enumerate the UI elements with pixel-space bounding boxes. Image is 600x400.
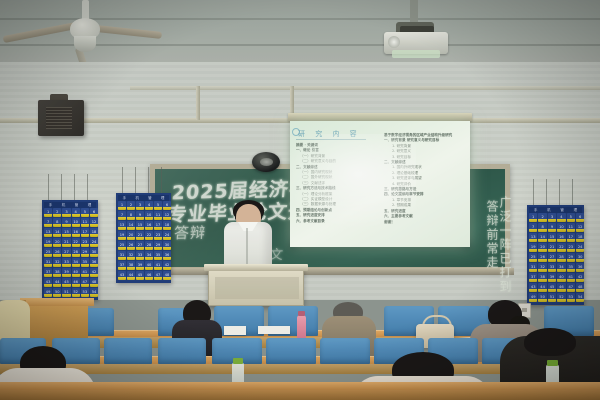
pocket-cell[interactable]: 12 xyxy=(163,211,171,220)
pink-bottle-cap xyxy=(298,311,305,316)
pocket-cell[interactable]: 18 xyxy=(576,233,584,242)
pocket-cell[interactable]: 20 xyxy=(538,243,546,252)
pocket-cell[interactable]: 52 xyxy=(557,293,565,302)
pocket-cell[interactable]: 32 xyxy=(538,263,546,272)
pocket-cell[interactable]: 5 xyxy=(81,208,89,217)
pocket-cell[interactable]: 45 xyxy=(548,283,556,292)
pocket-cell[interactable]: 25 xyxy=(44,248,52,257)
pocket-chart-strings xyxy=(42,174,98,200)
pocket-cell[interactable]: 27 xyxy=(62,248,70,257)
lectern xyxy=(208,268,304,306)
pocket-cell[interactable]: 9 xyxy=(548,223,556,232)
pocket-cell[interactable]: 25 xyxy=(118,241,126,250)
pocket-cell[interactable]: 7 xyxy=(529,223,537,232)
pocket-cell[interactable]: 3 xyxy=(62,208,70,217)
pocket-cell[interactable]: 9 xyxy=(62,218,70,227)
wall-clock xyxy=(252,152,280,172)
pocket-cell[interactable]: 22 xyxy=(72,238,80,247)
pocket-cell[interactable]: 30 xyxy=(90,248,98,257)
chalk-line-3: 答辩 xyxy=(173,222,207,244)
pocket-cell[interactable]: 46 xyxy=(557,283,565,292)
pocket-cell[interactable]: 1 xyxy=(44,208,52,217)
pocket-cell[interactable]: 1 xyxy=(529,213,537,222)
pocket-cell[interactable]: 30 xyxy=(576,253,584,262)
pocket-cell[interactable]: 52 xyxy=(72,288,80,297)
pocket-cell[interactable]: 20 xyxy=(53,238,61,247)
pocket-cell[interactable]: 11 xyxy=(154,211,162,220)
pocket-cell[interactable]: 13 xyxy=(118,221,126,230)
lectern-top xyxy=(204,264,308,271)
pocket-cell[interactable]: 36 xyxy=(576,263,584,272)
pocket-cell[interactable]: 28 xyxy=(145,241,153,250)
pocket-cell[interactable]: 19 xyxy=(44,238,52,247)
pocket-cell[interactable]: 44 xyxy=(127,271,135,280)
pocket-cell[interactable]: 16 xyxy=(557,233,565,242)
pocket-cell[interactable]: 8 xyxy=(53,218,61,227)
pocket-cell[interactable]: 39 xyxy=(548,273,556,282)
pocket-cell[interactable]: 53 xyxy=(81,288,89,297)
pocket-cell[interactable]: 40 xyxy=(145,261,153,270)
pocket-chart-grid: 1234567891011121314151617181920212223242… xyxy=(44,208,96,297)
pocket-cell[interactable]: 21 xyxy=(548,243,556,252)
pocket-cell[interactable]: 23 xyxy=(567,243,575,252)
pocket-cell[interactable]: 6 xyxy=(163,201,171,210)
pocket-cell[interactable]: 47 xyxy=(154,271,162,280)
pocket-cell[interactable]: 8 xyxy=(538,223,546,232)
pocket-cell[interactable]: 10 xyxy=(145,211,153,220)
pocket-cell[interactable]: 48 xyxy=(90,278,98,287)
pocket-cell[interactable]: 31 xyxy=(44,258,52,267)
pocket-cell[interactable]: 38 xyxy=(538,273,546,282)
desk-row-front-top xyxy=(0,382,600,390)
pocket-cell[interactable]: 36 xyxy=(163,251,171,260)
pocket-cell[interactable]: 43 xyxy=(44,278,52,287)
pocket-cell[interactable]: 3 xyxy=(548,213,556,222)
pocket-cell[interactable]: 53 xyxy=(567,293,575,302)
pocket-chart-grid: 1234567891011121314151617181920212223242… xyxy=(118,201,169,280)
pocket-cell[interactable]: 11 xyxy=(567,223,575,232)
pocket-cell[interactable]: 33 xyxy=(136,251,144,260)
pocket-cell[interactable]: 46 xyxy=(145,271,153,280)
pocket-cell[interactable]: 15 xyxy=(136,221,144,230)
chair-m3 xyxy=(104,338,152,364)
ceiling-fan xyxy=(24,0,150,58)
pocket-cell[interactable]: 17 xyxy=(81,228,89,237)
pocket-cell[interactable]: 31 xyxy=(118,251,126,260)
chair-m6 xyxy=(266,338,316,364)
pocket-cell[interactable]: 32 xyxy=(53,258,61,267)
pocket-cell[interactable]: 14 xyxy=(53,228,61,237)
pocket-cell[interactable]: 35 xyxy=(567,263,575,272)
pocket-cell[interactable]: 45 xyxy=(62,278,70,287)
pocket-cell[interactable]: 49 xyxy=(529,293,537,302)
pocket-cell[interactable]: 13 xyxy=(44,228,52,237)
pocket-cell[interactable]: 19 xyxy=(529,243,537,252)
pocket-cell[interactable]: 40 xyxy=(72,268,80,277)
pocket-cell[interactable]: 37 xyxy=(44,268,52,277)
audience-fg-right-hair xyxy=(524,328,576,356)
pocket-cell[interactable]: 31 xyxy=(529,263,537,272)
phone-pocket-chart-right: 手机管理123456789101112131415161718192021222… xyxy=(527,205,584,305)
pocket-cell[interactable]: 28 xyxy=(72,248,80,257)
pocket-cell[interactable]: 50 xyxy=(538,293,546,302)
pocket-cell[interactable]: 4 xyxy=(557,213,565,222)
pocket-cell[interactable]: 43 xyxy=(529,283,537,292)
wall-rail-upper xyxy=(130,86,600,90)
presentation-slide: 研 究 内 容 摘要 · 关键词一、继论 引言（一）研究背景（二）研究意义与目的… xyxy=(290,121,470,247)
pocket-cell[interactable]: 36 xyxy=(90,258,98,267)
pocket-cell[interactable]: 46 xyxy=(72,278,80,287)
projection-screen: 研 究 内 容 摘要 · 关键词一、继论 引言（一）研究背景（二）研究意义与目的… xyxy=(290,121,470,247)
pocket-cell[interactable]: 15 xyxy=(548,233,556,242)
phone-pocket-chart-left: 手机管理123456789101112131415161718192021222… xyxy=(42,200,98,300)
pocket-cell[interactable]: 17 xyxy=(154,221,162,230)
pocket-cell[interactable]: 30 xyxy=(163,241,171,250)
pocket-cell[interactable]: 48 xyxy=(576,283,584,292)
pocket-cell[interactable]: 14 xyxy=(127,221,135,230)
pocket-chart-grid: 1234567891011121314151617181920212223242… xyxy=(529,213,582,302)
pocket-cell[interactable]: 17 xyxy=(567,233,575,242)
pocket-cell[interactable]: 33 xyxy=(62,258,70,267)
chair-m4 xyxy=(158,338,206,364)
clear-bottle-cap xyxy=(233,358,243,364)
pocket-cell[interactable]: 51 xyxy=(548,293,556,302)
pocket-cell[interactable]: 19 xyxy=(118,231,126,240)
pocket-cell[interactable]: 26 xyxy=(538,253,546,262)
pocket-cell[interactable]: 39 xyxy=(136,261,144,270)
pocket-cell[interactable]: 2 xyxy=(127,201,135,210)
pocket-cell[interactable]: 12 xyxy=(90,218,98,227)
pocket-cell[interactable]: 5 xyxy=(154,201,162,210)
pocket-cell[interactable]: 7 xyxy=(118,211,126,220)
projector-lens xyxy=(388,36,400,48)
pocket-cell[interactable]: 54 xyxy=(90,288,98,297)
pocket-cell[interactable]: 39 xyxy=(62,268,70,277)
pocket-cell[interactable]: 40 xyxy=(557,273,565,282)
slide-line: 六、参考文献目录 xyxy=(296,219,380,224)
pocket-cell[interactable]: 9 xyxy=(136,211,144,220)
pocket-cell[interactable]: 4 xyxy=(72,208,80,217)
wall-speaker xyxy=(38,100,84,136)
pocket-cell[interactable]: 41 xyxy=(154,261,162,270)
pocket-cell[interactable]: 13 xyxy=(529,233,537,242)
pocket-cell[interactable]: 20 xyxy=(127,231,135,240)
pocket-cell[interactable]: 34 xyxy=(72,258,80,267)
paper-documents-2 xyxy=(258,326,290,334)
pocket-cell[interactable]: 28 xyxy=(557,253,565,262)
pocket-cell[interactable]: 37 xyxy=(529,273,537,282)
pocket-cell[interactable]: 43 xyxy=(118,271,126,280)
pocket-cell[interactable]: 42 xyxy=(163,261,171,270)
pocket-cell[interactable]: 41 xyxy=(81,268,89,277)
pocket-cell[interactable]: 21 xyxy=(136,231,144,240)
pocket-cell[interactable]: 18 xyxy=(163,221,171,230)
green-bottle-cap xyxy=(547,360,558,366)
pocket-cell[interactable]: 54 xyxy=(576,293,584,302)
pocket-cell[interactable]: 34 xyxy=(557,263,565,272)
pocket-cell[interactable]: 24 xyxy=(90,238,98,247)
pocket-cell[interactable]: 41 xyxy=(567,273,575,282)
pocket-cell[interactable]: 44 xyxy=(538,283,546,292)
pocket-cell[interactable]: 34 xyxy=(145,251,153,260)
pocket-cell[interactable]: 42 xyxy=(90,268,98,277)
pocket-cell[interactable]: 29 xyxy=(154,241,162,250)
pocket-cell[interactable]: 49 xyxy=(44,288,52,297)
pocket-cell[interactable]: 51 xyxy=(62,288,70,297)
pocket-cell[interactable]: 10 xyxy=(72,218,80,227)
pocket-cell[interactable]: 24 xyxy=(576,243,584,252)
slide-left-column: 摘要 · 关键词一、继论 引言（一）研究背景（二）研究意义与目的二、文献综述（一… xyxy=(296,143,380,224)
pocket-cell[interactable]: 32 xyxy=(127,251,135,260)
pocket-cell[interactable]: 16 xyxy=(72,228,80,237)
pocket-cell[interactable]: 27 xyxy=(136,241,144,250)
pocket-cell[interactable]: 50 xyxy=(53,288,61,297)
pocket-cell[interactable]: 35 xyxy=(81,258,89,267)
pocket-cell[interactable]: 47 xyxy=(81,278,89,287)
pocket-cell[interactable]: 8 xyxy=(127,211,135,220)
pocket-cell[interactable]: 10 xyxy=(557,223,565,232)
pocket-cell[interactable]: 7 xyxy=(44,218,52,227)
pocket-cell[interactable]: 48 xyxy=(163,271,171,280)
pocket-cell[interactable]: 18 xyxy=(90,228,98,237)
pocket-cell[interactable]: 35 xyxy=(154,251,162,260)
pocket-cell[interactable]: 38 xyxy=(53,268,61,277)
pocket-cell[interactable]: 11 xyxy=(81,218,89,227)
pocket-cell[interactable]: 24 xyxy=(163,231,171,240)
pocket-cell[interactable]: 6 xyxy=(90,208,98,217)
pocket-cell[interactable]: 29 xyxy=(81,248,89,257)
pocket-cell[interactable]: 3 xyxy=(136,201,144,210)
classroom-photo: 2025届经济学 专业毕业论文开题 答辩 论文 广泛一阵已打到 答辩前常走 研 … xyxy=(0,0,600,400)
pocket-cell[interactable]: 33 xyxy=(548,263,556,272)
chair-m7 xyxy=(320,338,370,364)
pocket-cell[interactable]: 2 xyxy=(53,208,61,217)
slide-line: 谢谢！ xyxy=(384,220,468,225)
desk-row-front-front xyxy=(0,390,600,400)
pocket-cell[interactable]: 14 xyxy=(538,233,546,242)
pocket-cell[interactable]: 37 xyxy=(118,261,126,270)
ceiling-projector xyxy=(380,0,454,62)
pocket-cell[interactable]: 44 xyxy=(53,278,61,287)
phone-pocket-chart-mid: 手机管理123456789101112131415161718192021222… xyxy=(116,193,171,283)
pocket-cell[interactable]: 47 xyxy=(567,283,575,292)
pocket-chart-strings xyxy=(116,167,171,193)
pocket-cell[interactable]: 45 xyxy=(136,271,144,280)
pocket-cell[interactable]: 12 xyxy=(576,223,584,232)
paper-documents xyxy=(224,326,246,335)
pocket-cell[interactable]: 26 xyxy=(53,248,61,257)
slide-title: 研 究 内 容 xyxy=(298,129,361,139)
slide-right-column: 基于数字经济视角的区域产业结构升级研究一、研究背景 研究意义与研究目标1. 研究… xyxy=(384,133,468,225)
pocket-cell[interactable]: 4 xyxy=(145,201,153,210)
pocket-cell[interactable]: 23 xyxy=(81,238,89,247)
pocket-cell[interactable]: 22 xyxy=(557,243,565,252)
pocket-cell[interactable]: 6 xyxy=(576,213,584,222)
pocket-cell[interactable]: 38 xyxy=(127,261,135,270)
pocket-cell[interactable]: 5 xyxy=(567,213,575,222)
chalk-ledge xyxy=(148,268,514,275)
projection-screen-case xyxy=(288,113,472,121)
pocket-cell[interactable]: 16 xyxy=(145,221,153,230)
pocket-cell[interactable]: 42 xyxy=(576,273,584,282)
pocket-cell[interactable]: 15 xyxy=(62,228,70,237)
pocket-cell[interactable]: 29 xyxy=(567,253,575,262)
pocket-chart-strings xyxy=(527,179,584,205)
pocket-cell[interactable]: 23 xyxy=(154,231,162,240)
pocket-cell[interactable]: 22 xyxy=(145,231,153,240)
pocket-cell[interactable]: 26 xyxy=(127,241,135,250)
pocket-cell[interactable]: 25 xyxy=(529,253,537,262)
wall-rail-vert-1 xyxy=(196,86,200,120)
pocket-cell[interactable]: 21 xyxy=(62,238,70,247)
pocket-cell[interactable]: 1 xyxy=(118,201,126,210)
chalk-vertical-2: 答辩前常走 xyxy=(484,200,501,270)
pocket-cell[interactable]: 2 xyxy=(538,213,546,222)
side-desk-top xyxy=(20,298,94,306)
pocket-cell[interactable]: 27 xyxy=(548,253,556,262)
